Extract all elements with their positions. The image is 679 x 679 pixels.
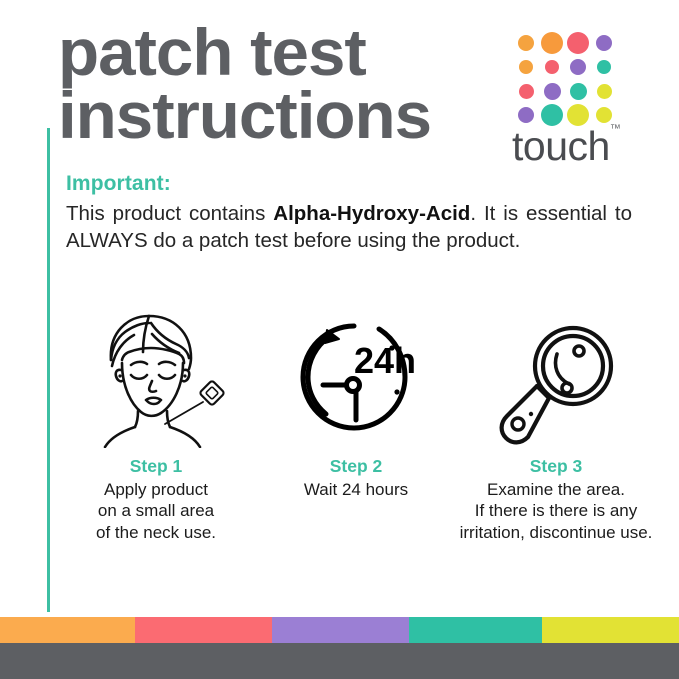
step-3-illustration: [456, 306, 656, 448]
step-1-body: Apply product on a small area of the nec…: [56, 479, 256, 543]
logo-dot: [596, 107, 612, 123]
trademark-symbol: ™: [610, 124, 621, 135]
page-title: patch test instructions: [58, 22, 498, 145]
poster-canvas: patch test instructions touch™ Important…: [0, 0, 679, 679]
step-item-2: 24h Step 2 Wait 24 hours: [256, 306, 456, 500]
logo-dot-grid: [512, 30, 620, 122]
page-title-line-2: instructions: [58, 85, 507, 146]
important-text-before: This product contains: [66, 202, 273, 225]
step-2-title: Step 2: [256, 456, 456, 477]
steps-row: Step 1 Apply product on a small area of …: [56, 306, 656, 543]
clock-24h-icon: 24h: [291, 313, 421, 441]
logo-dot: [567, 32, 589, 54]
important-body: This product contains Alpha-Hydroxy-Acid…: [66, 200, 632, 254]
step-3-body: Examine the area. If there is there is a…: [456, 479, 656, 543]
logo-dot: [597, 60, 611, 74]
footer-color-bands: [0, 617, 679, 643]
step-1-illustration: [56, 306, 256, 448]
step-3-title: Step 3: [456, 456, 656, 477]
clock-label: 24h: [354, 340, 416, 381]
page-title-line-1: patch test: [58, 22, 507, 83]
footer-color-band: [542, 617, 679, 643]
brand-logo: touch™: [512, 30, 632, 167]
logo-dot: [519, 60, 533, 74]
footer-color-band: [135, 617, 272, 643]
woman-face-with-hair-towel-icon: [81, 308, 231, 448]
logo-dot: [570, 59, 586, 75]
step-item-1: Step 1 Apply product on a small area of …: [56, 306, 256, 543]
ingredient-name: Alpha-Hydroxy-Acid: [273, 202, 470, 225]
logo-dot: [596, 35, 612, 51]
logo-dot: [518, 35, 534, 51]
brand-wordmark: touch™: [512, 126, 632, 167]
logo-dot: [519, 84, 534, 99]
step-item-3: Step 3 Examine the area. If there is the…: [456, 306, 656, 543]
logo-dot: [570, 83, 587, 100]
footer-color-band: [409, 617, 542, 643]
step-2-illustration: 24h: [256, 306, 456, 448]
footer-color-band: [272, 617, 409, 643]
brand-wordmark-text: touch: [512, 123, 610, 169]
vertical-accent-rule: [47, 128, 50, 612]
logo-dot: [544, 83, 561, 100]
footer-bar: [0, 643, 679, 679]
footer-color-band: [0, 617, 135, 643]
step-1-title: Step 1: [56, 456, 256, 477]
logo-dot: [597, 84, 612, 99]
logo-dot: [545, 60, 559, 74]
logo-dot: [541, 32, 563, 54]
important-label: Important:: [66, 172, 632, 196]
important-notice: Important: This product contains Alpha-H…: [66, 172, 632, 254]
magnifying-glass-icon: [491, 318, 621, 448]
logo-dot: [518, 107, 534, 123]
step-2-body: Wait 24 hours: [256, 479, 456, 500]
